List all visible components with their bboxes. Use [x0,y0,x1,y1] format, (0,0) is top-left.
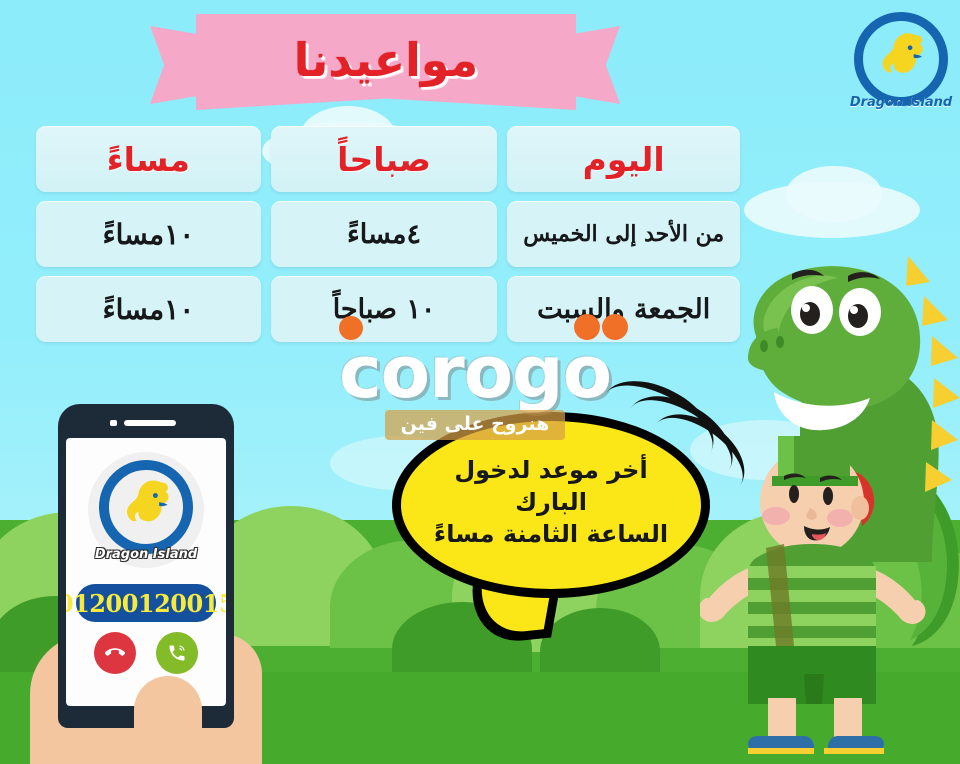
thumb-shape [134,676,202,764]
header-cell-day: اليوم [507,126,740,192]
header-evening-label: مساءً [107,140,190,179]
poster-canvas: مواعيدنا Dragon Island اليوم صباحاً مساء… [0,0,960,764]
cell-day-range: من الأحد إلى الخميس [507,201,740,267]
header-cell-morning: صباحاً [271,126,498,192]
cell-text: ٤مساءً [347,219,421,250]
cell-text: ١٠مساءً [102,293,194,326]
bubble-line-2: الساعة الثامنة مساءً [415,519,687,551]
header-cell-evening: مساءً [36,126,261,192]
bubble-line-1: أخر موعد لدخول البارك [415,455,687,518]
cell-text: من الأحد إلى الخميس [523,221,724,247]
logo-brand-text: Dragon Island [88,547,204,562]
cell-evening-time: ١٠مساءً [36,201,261,267]
dragon-icon [872,24,930,90]
header-day-label: اليوم [583,140,665,179]
cell-morning-time: ١٠ صباحاً [271,276,498,342]
phone-number-text: 01200120015 [66,589,226,618]
cloud-icon [786,166,882,222]
phone-accept-icon[interactable] [156,632,198,674]
phone-number-bar: 01200120015 [76,584,216,622]
phone-in-hand: Dragon Island 01200120015 [58,404,234,748]
dragon-island-logo: Dragon Island [848,8,954,114]
table-row: من الأحد إلى الخميس ٤مساءً ١٠مساءً [36,201,740,267]
speech-bubble-text: أخر موعد لدخول البارك الساعة الثامنة مسا… [401,455,701,550]
speaker-grill [124,420,176,426]
cell-evening-time: ١٠مساءً [36,276,261,342]
schedule-table: اليوم صباحاً مساءً من الأحد إلى الخميس ٤… [36,126,740,342]
table-row: الجمعة والسبت ١٠ صباحاً ١٠مساءً [36,276,740,342]
speech-bubble: أخر موعد لدخول البارك الساعة الثامنة مسا… [392,412,710,598]
table-header-row: اليوم صباحاً مساءً [36,126,740,192]
watermark-dot [339,316,363,340]
watermark-dot [574,314,600,340]
page-title: مواعيدنا [196,20,576,100]
cell-text: ١٠مساءً [102,218,194,251]
watermark-dot [602,314,628,340]
dragon-icon [116,470,176,540]
camera-icon [110,420,117,426]
header-morning-label: صباحاً [337,140,431,179]
call-buttons [94,632,198,674]
logo-brand-text: Dragon Island [848,95,954,110]
phone-frame: Dragon Island 01200120015 [58,404,234,728]
phone-decline-icon[interactable] [94,632,136,674]
cell-morning-time: ٤مساءً [271,201,498,267]
phone-screen: Dragon Island 01200120015 [66,438,226,706]
title-banner: مواعيدنا [150,14,620,118]
dragon-island-logo: Dragon Island [88,452,204,568]
